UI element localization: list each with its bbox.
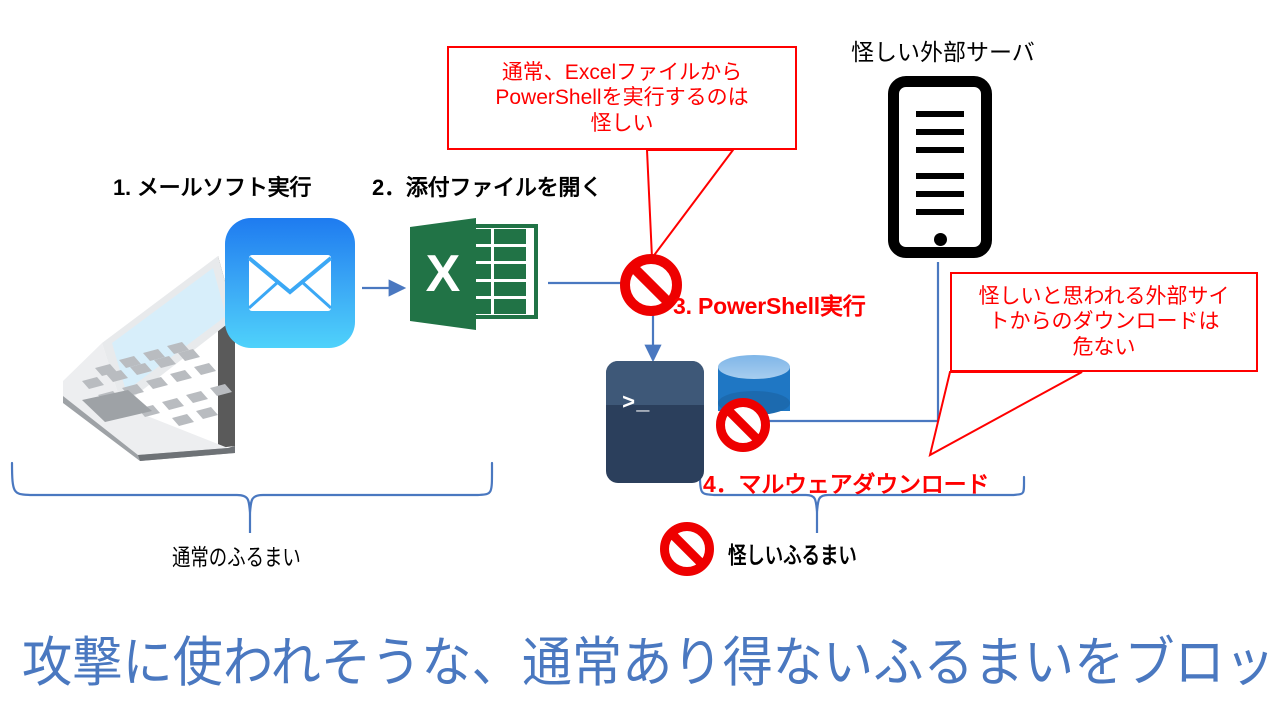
callout-powershell-text: 通常、Excelファイルから PowerShellを実行するのは 怪しい [495, 60, 748, 137]
brace-label-suspicious-behavior: 怪しいふるまい [728, 536, 857, 570]
prohibition-icon-download [716, 398, 770, 452]
terminal-icon: >_ [606, 361, 704, 483]
mail-app-icon [225, 218, 355, 348]
callout-powershell: 通常、Excelファイルから PowerShellを実行するのは 怪しい [447, 46, 797, 150]
step-label-1: 1. メールソフト実行 [113, 170, 311, 202]
slide-canvas: X >_ 1. メールソフト実行 2．添付ファイルを開く 3. PowerShe… [0, 0, 1278, 714]
terminal-title-bar [606, 361, 704, 405]
excel-grid [467, 229, 533, 314]
server-label: 怪しい外部サーバ [851, 33, 1035, 67]
step-label-4: 4．マルウェアダウンロード [703, 465, 989, 499]
step-label-2: 2．添付ファイルを開く [372, 170, 602, 202]
step-label-3: 3. PowerShell実行 [673, 287, 866, 321]
excel-x-letter: X [410, 218, 476, 330]
prohibition-icon-legend [660, 522, 714, 576]
server-icon [888, 76, 992, 258]
brace-label-normal-behavior: 通常のふるまい [172, 538, 301, 572]
excel-file-icon: X [410, 218, 542, 330]
callout-download-text: 怪しいと思われる外部サイ トからのダウンロードは 危ない [979, 284, 1230, 361]
terminal-prompt-text: >_ [622, 391, 650, 416]
page-title: 攻撃に使われそうな、通常あり得ないふるまいをブロック [22, 618, 1278, 697]
callout-download: 怪しいと思われる外部サイ トからのダウンロードは 危ない [950, 272, 1258, 372]
